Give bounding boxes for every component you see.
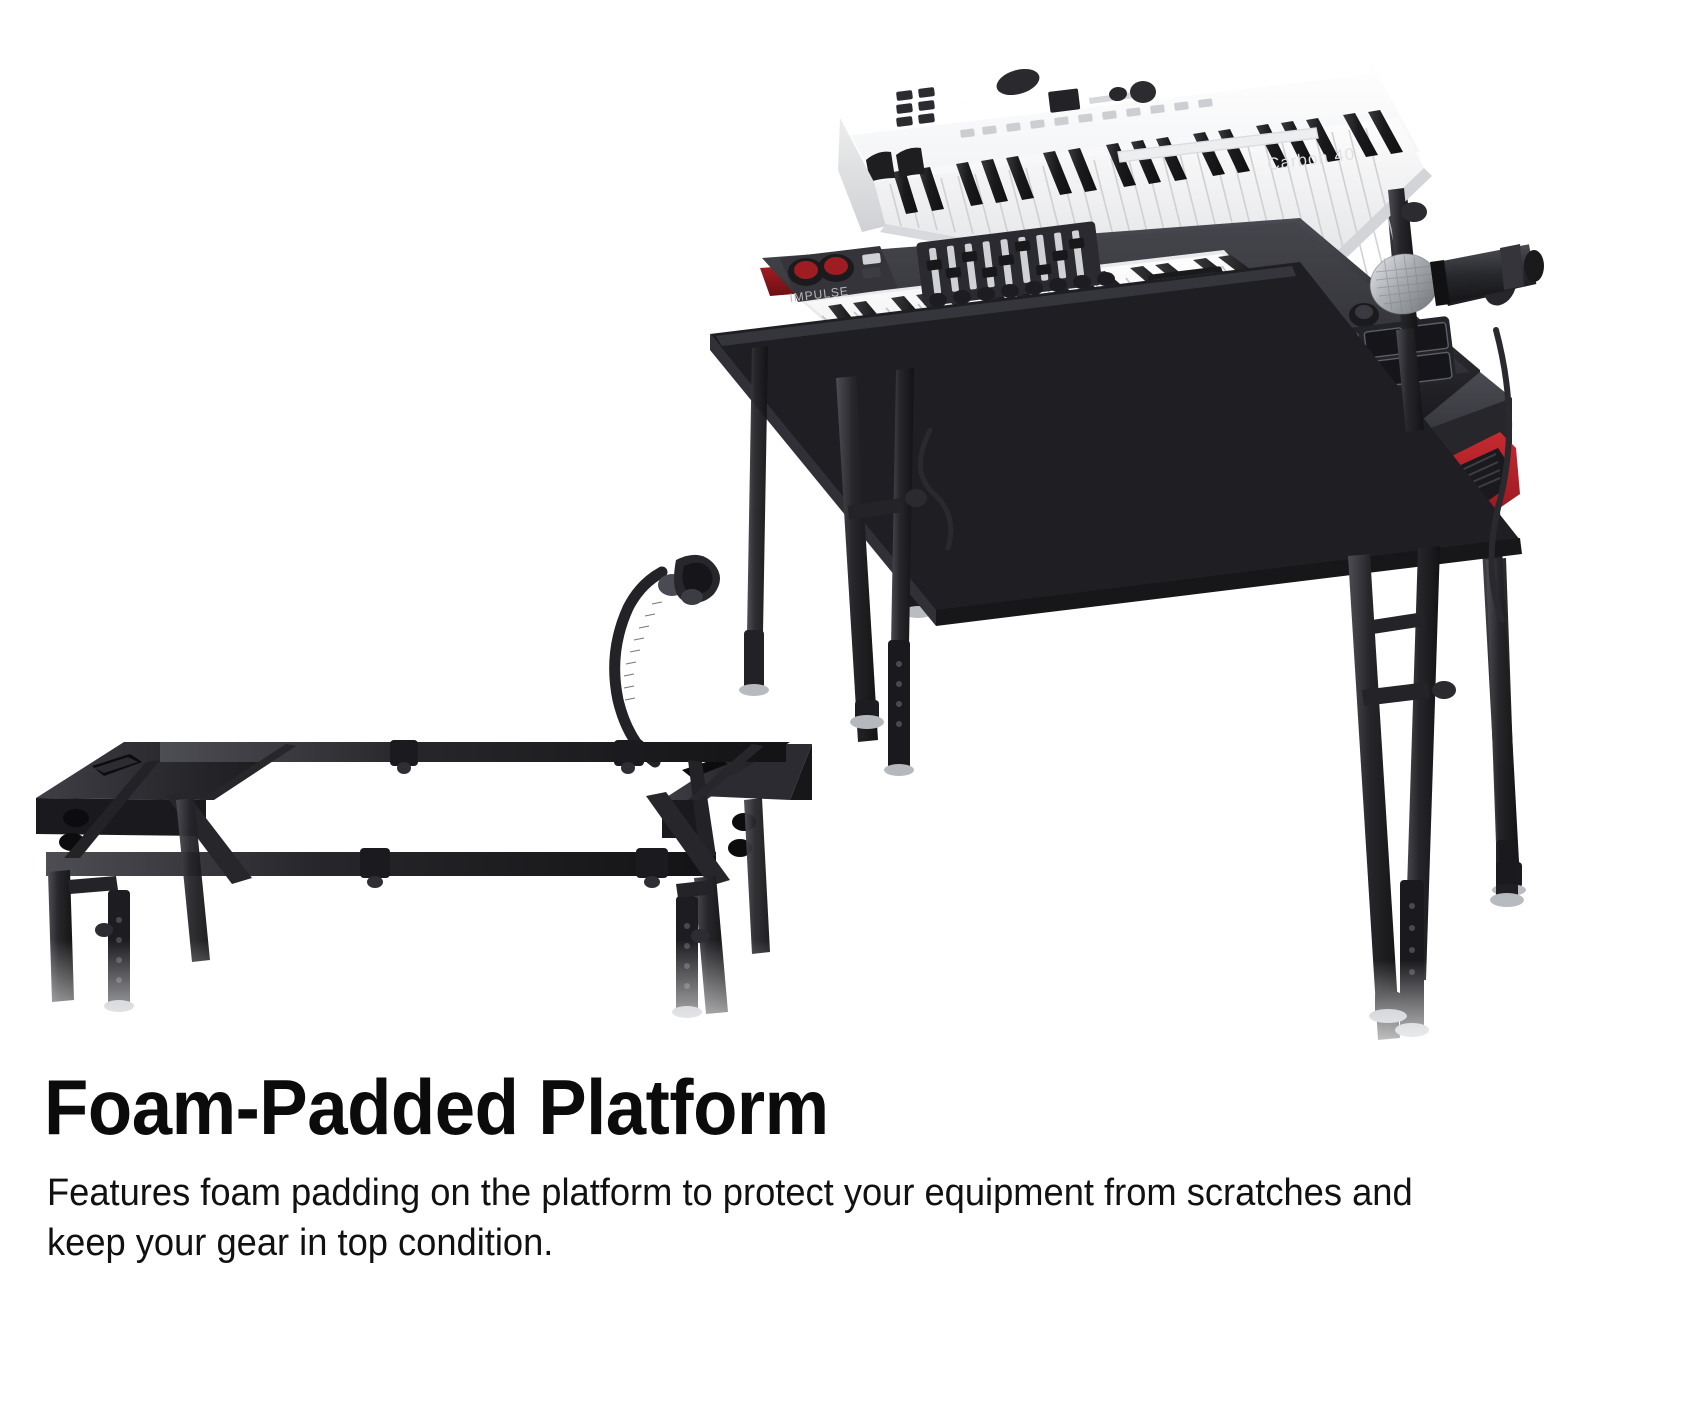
feature-description: Features foam padding on the platform to… <box>47 1168 1441 1268</box>
page-title: Foam-Padded Platform <box>44 1064 829 1150</box>
feature-description-line-1: Features foam padding on the platform to… <box>47 1172 1342 1214</box>
feature-text-block: Foam-Padded Platform Features foam paddi… <box>0 1052 1700 1412</box>
product-feature-panel: Carbon 40 <box>0 0 1700 1413</box>
product-illustration: Carbon 40 <box>0 0 1700 1060</box>
hero-product-image: Carbon 40 <box>0 0 1700 1060</box>
